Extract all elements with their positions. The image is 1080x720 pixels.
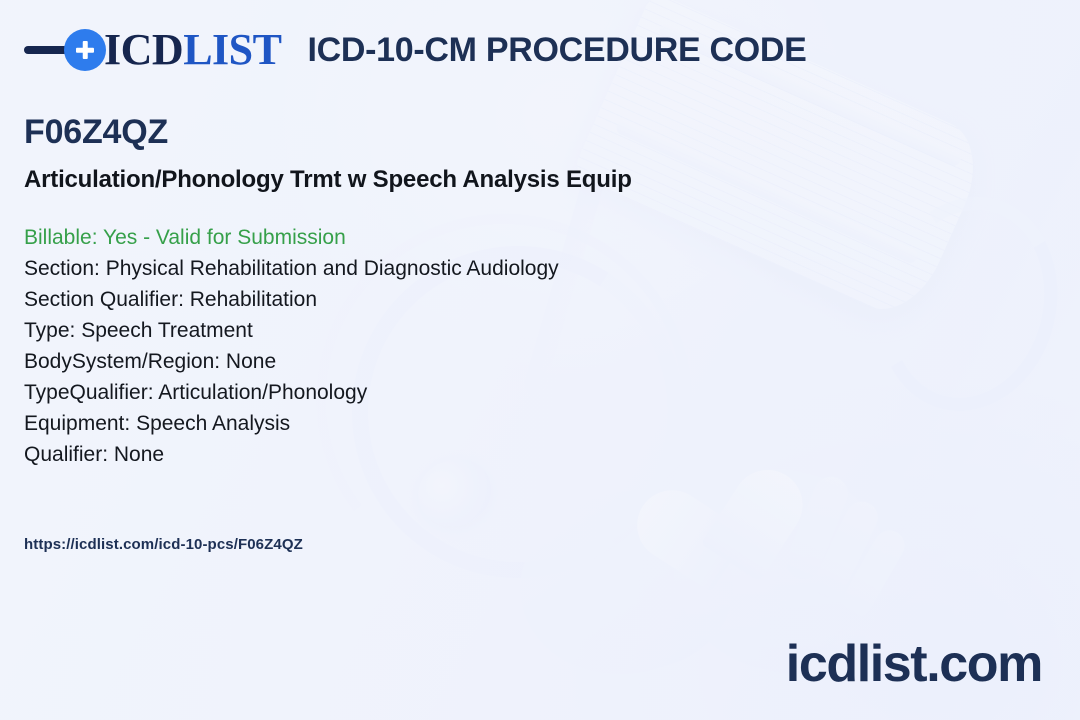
procedure-code-card: ICD LIST ICD-10-CM PROCEDURE CODE F06Z4Q… [0, 0, 1080, 720]
detail-row-qualifier: Qualifier: None [24, 439, 1024, 470]
detail-row-section: Section: Physical Rehabilitation and Dia… [24, 253, 1024, 284]
logo-text-primary: ICD [104, 28, 183, 72]
detail-row-section-qualifier: Section Qualifier: Rehabilitation [24, 284, 1024, 315]
site-watermark: icdlist.com [786, 634, 1042, 694]
dash-icon [24, 46, 68, 54]
logo-text-secondary: LIST [183, 28, 281, 72]
header: ICD LIST ICD-10-CM PROCEDURE CODE [24, 24, 807, 76]
code-details-list: Billable: Yes - Valid for Submission Sec… [24, 222, 1024, 470]
detail-row-type: Type: Speech Treatment [24, 315, 1024, 346]
detail-row-type-qualifier: TypeQualifier: Articulation/Phonology [24, 377, 1024, 408]
procedure-code-description: Articulation/Phonology Trmt w Speech Ana… [24, 166, 632, 194]
detail-row-billable: Billable: Yes - Valid for Submission [24, 222, 1024, 253]
source-url[interactable]: https://icdlist.com/icd-10-pcs/F06Z4QZ [24, 536, 303, 553]
detail-row-equipment: Equipment: Speech Analysis [24, 408, 1024, 439]
card-content: ICD LIST ICD-10-CM PROCEDURE CODE F06Z4Q… [0, 0, 1080, 720]
detail-row-bodysystem-region: BodySystem/Region: None [24, 346, 1024, 377]
page-title: ICD-10-CM PROCEDURE CODE [307, 31, 806, 70]
plus-icon [64, 29, 106, 71]
icdlist-logo[interactable]: ICD LIST [24, 24, 281, 76]
procedure-code-value: F06Z4QZ [24, 113, 168, 152]
